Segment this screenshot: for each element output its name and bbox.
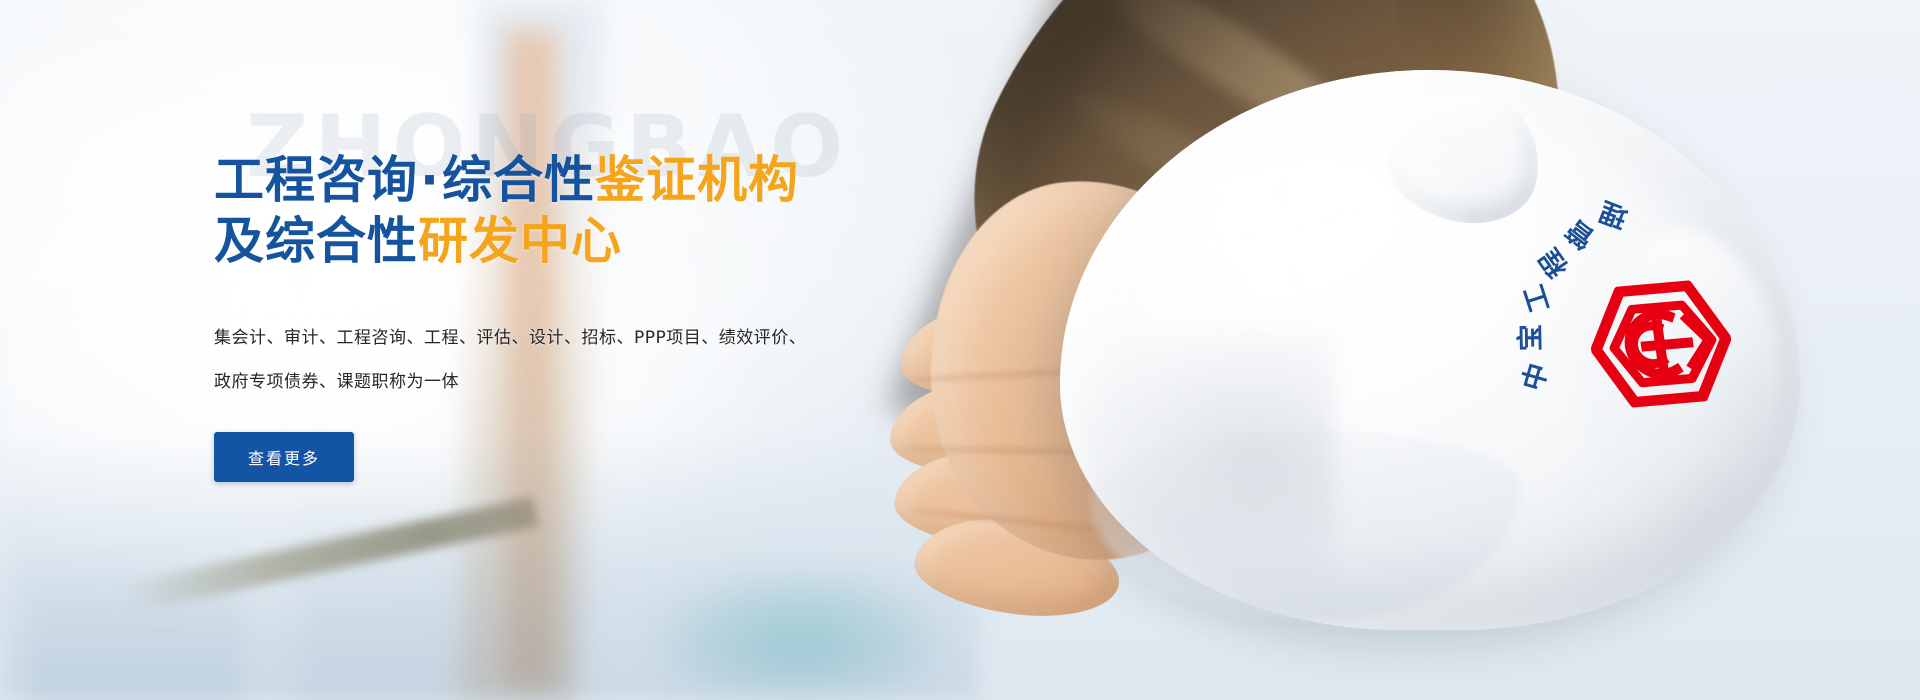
view-more-button[interactable]: 查看更多 xyxy=(214,432,354,482)
headline-orange-b: 研发中心 xyxy=(418,212,622,270)
teal-background-patch xyxy=(660,570,940,690)
description-line-2: 政府专项债券、课题职称为一体 xyxy=(214,360,954,404)
headline-line-1: 工程咨询·综合性鉴证机构 xyxy=(214,150,954,211)
helmet-brand-char: 宝 xyxy=(1508,324,1547,352)
description-line-1: 集会计、审计、工程咨询、工程、评估、设计、招标、PPP项目、绩效评价、 xyxy=(214,316,954,360)
hero-copy-block: 工程咨询·综合性鉴证机构 及综合性研发中心 集会计、审计、工程咨询、工程、评估、… xyxy=(214,150,954,482)
headline-blue-b: 综合性 xyxy=(442,151,595,209)
helmet-brand-char: 工 xyxy=(1512,280,1557,318)
helmet-brand-char: 中 xyxy=(1511,358,1556,395)
headline-line-2: 及综合性研发中心 xyxy=(214,211,954,272)
headline-separator-dot: · xyxy=(418,151,442,209)
hard-hat-shadow xyxy=(1075,330,1335,620)
helmet-brand-logo: 中宝工程管理 xyxy=(1495,175,1825,505)
hero-banner: 中宝工程管理 ZHONGBAO 工程咨询·综合性鉴证机构 及综合性研发中心 集会… xyxy=(0,0,1920,700)
headline-blue-a: 工程咨询 xyxy=(214,151,418,209)
headline-blue-c: 及综合性 xyxy=(214,212,418,270)
page-title: 工程咨询·综合性鉴证机构 及综合性研发中心 xyxy=(214,150,954,272)
hero-description: 集会计、审计、工程咨询、工程、评估、设计、招标、PPP项目、绩效评价、 政府专项… xyxy=(214,316,954,404)
headline-orange-a: 鉴证机构 xyxy=(595,151,799,209)
helmet-brand-text: 中宝工程管理 xyxy=(1495,175,1825,505)
helmet-brand-char: 理 xyxy=(1593,194,1632,240)
